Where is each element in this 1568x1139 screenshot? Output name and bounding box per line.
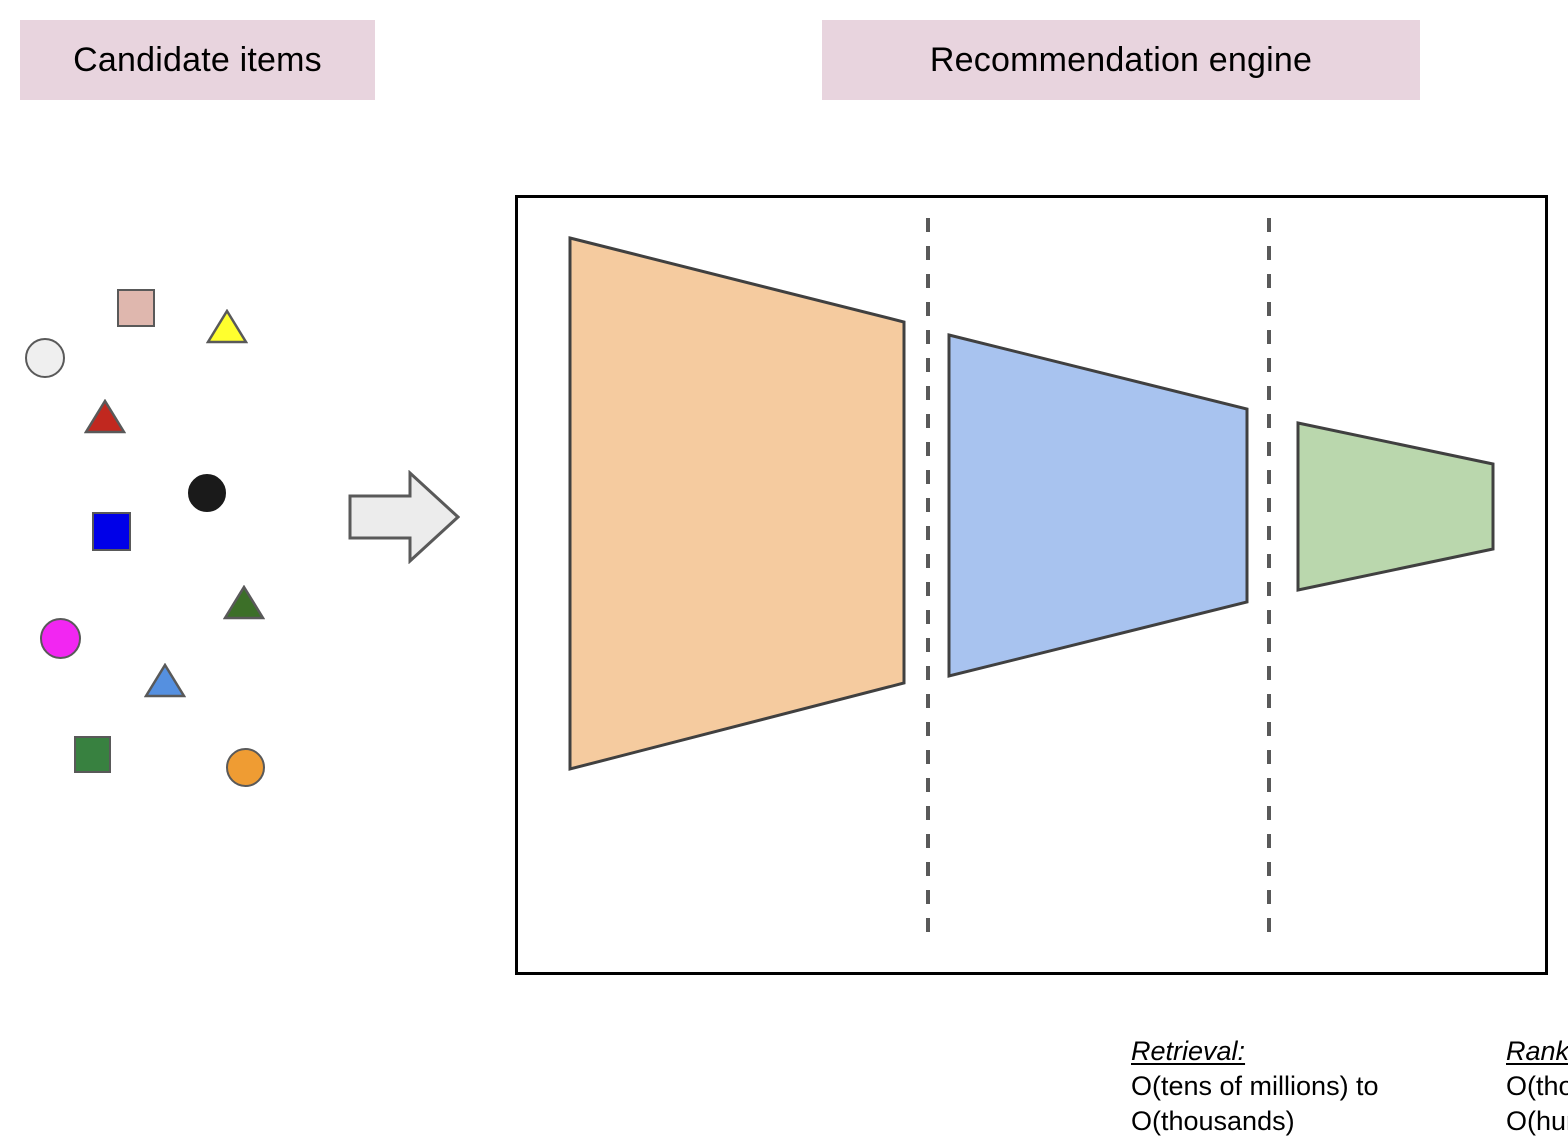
stage-title-retrieval: Retrieval: bbox=[1131, 1034, 1245, 1069]
stage-line-ranking-2: O(hundred) bbox=[1506, 1104, 1568, 1139]
stage-title-ranking: Ranking: bbox=[1506, 1034, 1568, 1069]
funnel-stage-ranking bbox=[949, 335, 1247, 676]
stage-line-retrieval-1: O(tens of millions) to bbox=[1131, 1069, 1379, 1104]
right-arrow-icon-svg bbox=[348, 470, 460, 564]
rosy-square bbox=[117, 289, 155, 327]
right-arrow-shape bbox=[350, 473, 458, 561]
stage-caption-retrieval: Retrieval: O(tens of millions) to O(thou… bbox=[1131, 1034, 1379, 1139]
black-circle bbox=[188, 474, 226, 512]
dark-red-triangle bbox=[84, 399, 126, 434]
blue-square bbox=[92, 512, 131, 551]
recommendation-engine-frame: Retrieval: O(tens of millions) to O(thou… bbox=[515, 195, 1548, 975]
stage-caption-ranking: Ranking: O(thousands) to O(hundred) bbox=[1506, 1034, 1568, 1139]
light-gray-circle bbox=[25, 338, 65, 378]
funnel-shapes-group bbox=[570, 238, 1493, 769]
stage-line-retrieval-2: O(thousands) bbox=[1131, 1104, 1379, 1139]
funnel-stage-post-ranking bbox=[1298, 423, 1493, 590]
right-arrow-icon bbox=[348, 470, 460, 564]
funnel-stage-retrieval bbox=[570, 238, 904, 769]
green-square bbox=[74, 736, 111, 773]
stage-line-ranking-1: O(thousands) to bbox=[1506, 1069, 1568, 1104]
banner-recommendation-engine-label: Recommendation engine bbox=[930, 41, 1312, 80]
dark-green-triangle bbox=[223, 585, 265, 620]
yellow-triangle bbox=[206, 309, 248, 344]
magenta-circle bbox=[40, 618, 81, 659]
blue-triangle bbox=[144, 663, 186, 698]
orange-circle bbox=[226, 748, 265, 787]
funnel-canvas bbox=[518, 198, 1551, 978]
banner-recommendation-engine: Recommendation engine bbox=[822, 20, 1420, 100]
